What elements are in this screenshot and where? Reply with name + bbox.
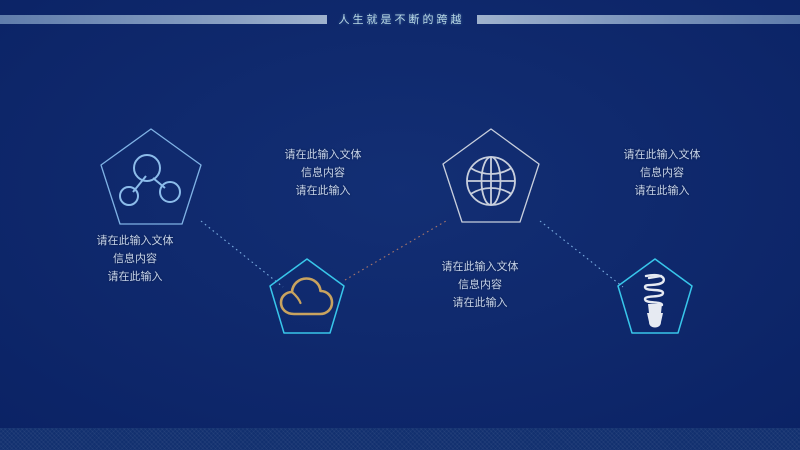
globe-icon: [467, 157, 515, 205]
text-block-2: 请在此输入文体 信息内容 请在此输入: [248, 146, 398, 200]
text-line-2: 信息内容: [405, 276, 555, 294]
text-line-3: 请在此输入: [60, 268, 210, 286]
slide-canvas: 人生就是不断的跨越: [0, 0, 800, 450]
text-line-1: 请在此输入文体: [60, 232, 210, 250]
pentagon-outline: [101, 129, 201, 224]
slide-header: 人生就是不断的跨越: [0, 9, 800, 29]
text-block-3: 请在此输入文体 信息内容 请在此输入: [405, 258, 555, 312]
header-bar-left: [0, 15, 327, 24]
text-line-1: 请在此输入文体: [405, 258, 555, 276]
molecule-network-icon: [120, 155, 180, 205]
text-block-1: 请在此输入文体 信息内容 请在此输入: [60, 232, 210, 286]
node-cloud[interactable]: [267, 256, 347, 338]
text-line-3: 请在此输入: [587, 182, 737, 200]
text-line-3: 请在此输入: [248, 182, 398, 200]
text-line-3: 请在此输入: [405, 294, 555, 312]
node-molecule[interactable]: [97, 126, 205, 228]
text-line-1: 请在此输入文体: [248, 146, 398, 164]
pentagon-outline: [270, 259, 344, 333]
cloud-icon: [281, 279, 332, 315]
header-bar-right: [477, 15, 800, 24]
node-lightbulb[interactable]: [615, 256, 695, 338]
cloud-icon-notch: [292, 292, 301, 303]
text-line-2: 信息内容: [587, 164, 737, 182]
text-block-4: 请在此输入文体 信息内容 请在此输入: [587, 146, 737, 200]
text-line-1: 请在此输入文体: [587, 146, 737, 164]
slide-title: 人生就是不断的跨越: [339, 11, 465, 27]
text-line-2: 信息内容: [60, 250, 210, 268]
light-bulb-icon: [645, 275, 664, 327]
node-globe[interactable]: [439, 126, 543, 226]
text-line-2: 信息内容: [248, 164, 398, 182]
background-texture-band: [0, 428, 800, 450]
